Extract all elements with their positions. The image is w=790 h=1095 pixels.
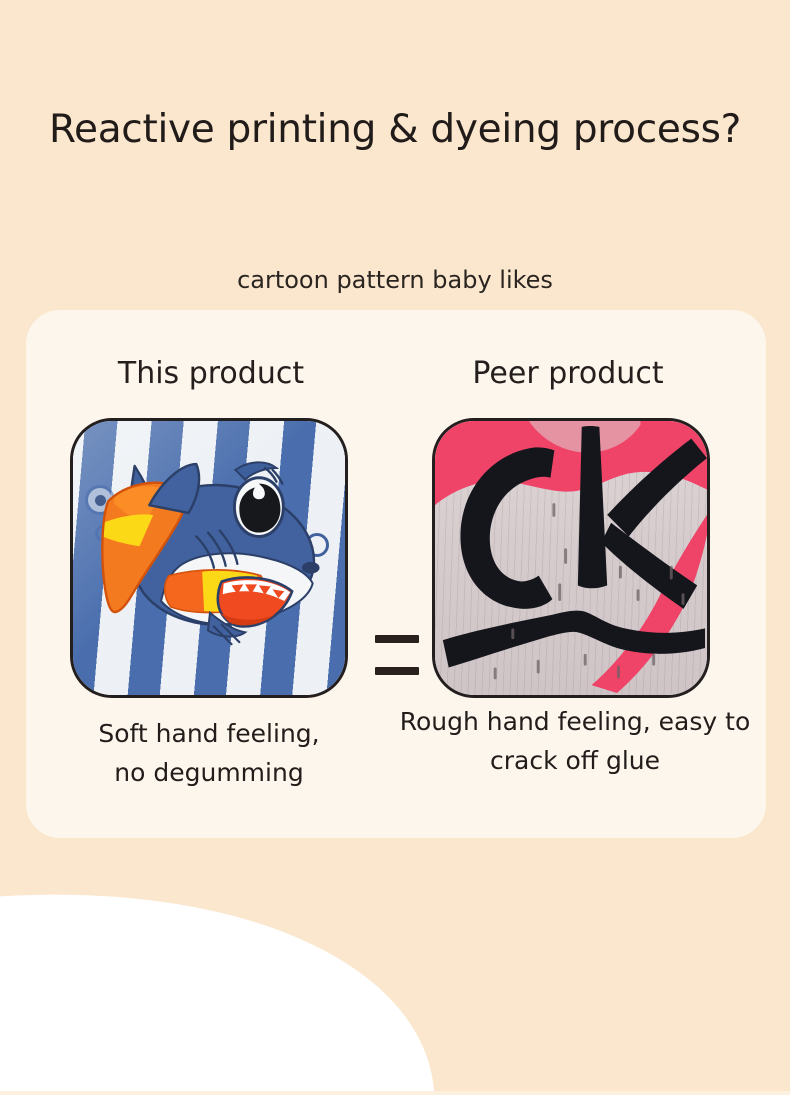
this-product-caption: Soft hand feeling, no degumming	[48, 714, 370, 792]
caption-line: Soft hand feeling,	[48, 714, 370, 753]
caption-line: Rough hand feeling, easy to	[394, 702, 756, 741]
this-product-image	[70, 418, 348, 698]
ck-graffiti-icon	[435, 421, 707, 695]
page-title: Reactive printing & dyeing process?	[0, 104, 790, 156]
peer-product-image	[432, 418, 710, 698]
cartoon-shark-icon	[73, 421, 345, 695]
comparison-images	[26, 418, 766, 708]
subtitle: cartoon pattern baby likes	[0, 263, 790, 297]
comparison-headings: This product Peer product	[26, 352, 766, 396]
caption-line: crack off glue	[394, 741, 756, 780]
column-heading-this-product: This product	[46, 352, 376, 396]
column-heading-peer-product: Peer product	[398, 352, 738, 396]
peer-product-caption: Rough hand feeling, easy to crack off gl…	[394, 702, 756, 780]
comparison-card: This product Peer product	[26, 310, 766, 838]
promo-page: Reactive printing & dyeing process? cart…	[0, 0, 790, 1095]
bottom-curve-decoration	[0, 822, 478, 1095]
bottom-strip-decoration	[0, 1091, 790, 1095]
equals-sign	[375, 631, 419, 679]
caption-line: no degumming	[48, 753, 370, 792]
